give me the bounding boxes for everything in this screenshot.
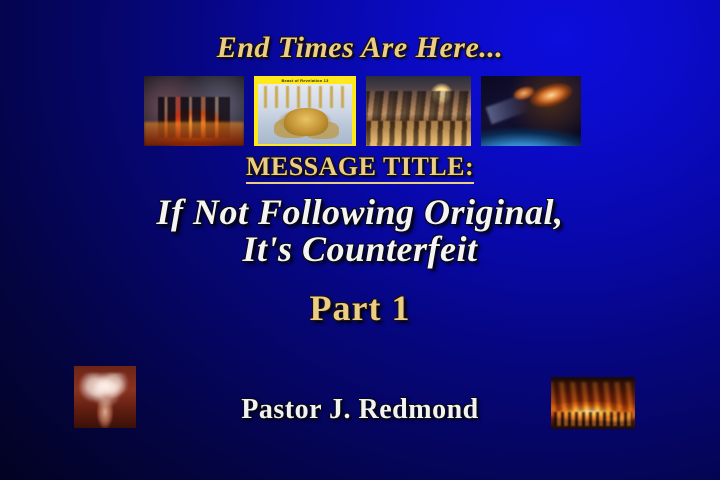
part-label: Part 1 [0,287,720,329]
sermon-title-line-1: If Not Following Original, [0,191,720,233]
beast-illustration [258,84,352,144]
message-title-label: MESSAGE TITLE: [0,152,720,182]
fire-thumbnail [551,377,635,429]
message-title-label-text: MESSAGE TITLE: [246,152,474,184]
fiery-horsemen-thumbnail [144,76,244,146]
page-title: End Times Are Here... [0,31,720,65]
sermon-title-line-2: It's Counterfeit [0,228,720,270]
fiery-horsemen-image [144,76,244,146]
locust-army-image [366,76,471,146]
beast-revelation-thumbnail: Beast of Revelation 13 [254,76,356,146]
meteor-earth-image [481,76,581,146]
meteor-earth-thumbnail [481,76,581,146]
fire-image [551,377,635,429]
top-thumbnail-strip: Beast of Revelation 13 [144,76,581,146]
sermon-title-slide: End Times Are Here... Beast of Revelatio… [0,0,720,480]
beast-revelation-caption: Beast of Revelation 13 [254,77,356,84]
locust-army-thumbnail [366,76,471,146]
beast-revelation-image: Beast of Revelation 13 [254,76,356,146]
